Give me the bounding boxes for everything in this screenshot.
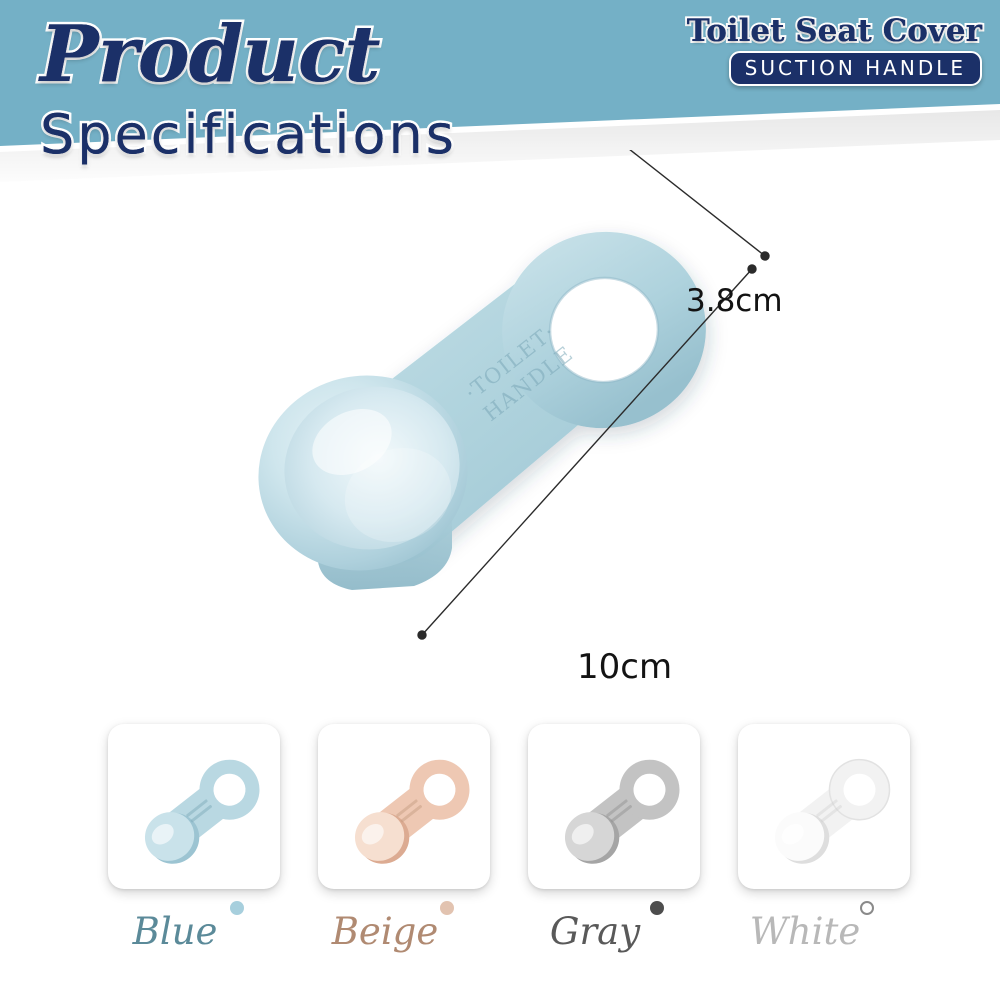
variant-card-blue[interactable]	[108, 724, 280, 889]
variant-image-beige	[318, 724, 490, 889]
variant-dot-gray	[650, 901, 664, 915]
variant-label-white: White	[726, 911, 884, 953]
variant-label-beige: Beige	[306, 911, 464, 953]
variant-card-beige[interactable]	[318, 724, 490, 889]
page-title-product: Product	[40, 16, 380, 94]
brand-name: Toilet Seat Cover	[687, 14, 982, 48]
dimension-label-length: 10cm	[577, 647, 672, 687]
color-variant-row: Blue	[0, 724, 1000, 1000]
hero-product-figure: ·TOILET· HANDLE 3.8cm 10cm	[0, 150, 1000, 710]
color-variant-beige[interactable]: Beige	[306, 724, 502, 977]
variant-dot-blue	[230, 901, 244, 915]
variant-card-white[interactable]	[738, 724, 910, 889]
variant-dot-white	[860, 901, 874, 915]
hero-product-illustration: ·TOILET· HANDLE	[0, 150, 1000, 710]
product-specifications-page: Product Product Specifications Specifica…	[0, 0, 1000, 1000]
variant-label-blue: Blue	[96, 911, 254, 953]
color-variant-gray[interactable]: Gray	[516, 724, 712, 977]
variant-label-gray: Gray	[516, 911, 674, 953]
dimension-label-width: 3.8cm	[686, 283, 783, 319]
variant-dot-beige	[440, 901, 454, 915]
variant-image-white	[738, 724, 910, 889]
page-title-specifications: Specifications	[40, 108, 457, 162]
brand-badge: Toilet Seat Cover Toilet Seat Cover SUCT…	[687, 14, 982, 86]
variant-image-blue	[108, 724, 280, 889]
variant-image-gray	[528, 724, 700, 889]
variant-card-gray[interactable]	[528, 724, 700, 889]
brand-subtitle-pill: SUCTION HANDLE	[729, 51, 982, 86]
color-variant-white[interactable]: White	[726, 724, 922, 977]
color-variant-blue[interactable]: Blue	[96, 724, 292, 977]
